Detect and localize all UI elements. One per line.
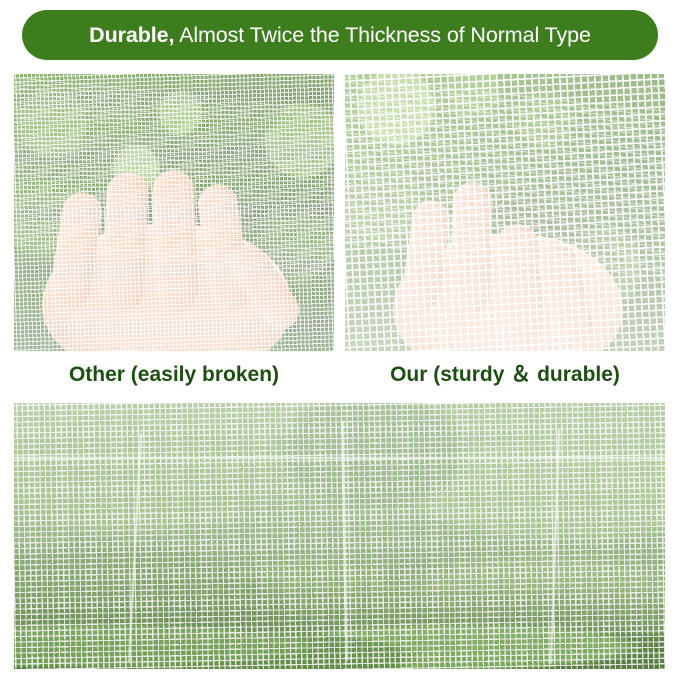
comparison-photo-row xyxy=(14,74,665,351)
header-banner-lead: Durable, xyxy=(89,23,174,47)
hand-behind-thick-mesh-photo xyxy=(345,74,665,351)
garden-covered-with-mesh-netting-photo: Made of high quality PE material with go… xyxy=(14,403,665,669)
header-banner-text: Durable, Almost Twice the Thickness of N… xyxy=(89,23,591,48)
hand-behind-fine-mesh-photo xyxy=(14,74,334,351)
product-infographic: Durable, Almost Twice the Thickness of N… xyxy=(0,0,679,681)
netting-weave xyxy=(14,403,665,669)
caption-other: Other (easily broken) xyxy=(14,355,334,399)
support-ridge xyxy=(14,457,665,459)
header-banner-rest: Almost Twice the Thickness of Normal Typ… xyxy=(174,23,590,47)
caption-ours: Our (sturdy ＆ durable) xyxy=(345,355,665,399)
header-banner: Durable, Almost Twice the Thickness of N… xyxy=(22,10,658,60)
comparison-captions: Other (easily broken) Our (sturdy ＆ dura… xyxy=(14,355,665,399)
